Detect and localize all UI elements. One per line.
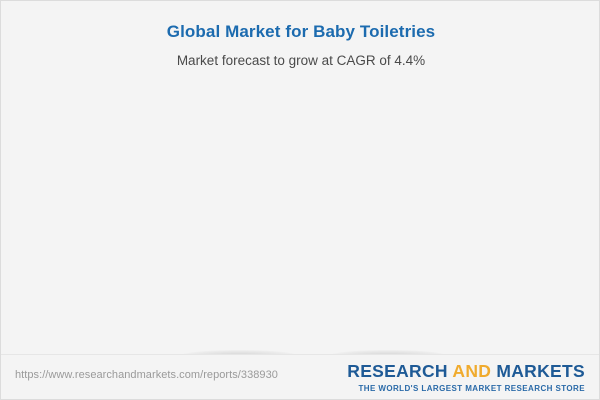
brand-logo[interactable]: RESEARCH AND MARKETS THE WORLD'S LARGEST… (347, 361, 585, 393)
brand-logo-tagline: THE WORLD'S LARGEST MARKET RESEARCH STOR… (347, 384, 585, 393)
brand-logo-and: AND (452, 361, 491, 381)
source-url-link[interactable]: https://www.researchandmarkets.com/repor… (15, 369, 278, 381)
chart-plot-area: USD 10.3 Billion 2022 USD 14.5 Billion (1, 1, 600, 356)
brand-logo-wordmark: RESEARCH AND MARKETS (347, 361, 585, 382)
brand-logo-research: RESEARCH (347, 361, 452, 381)
footer-bar: https://www.researchandmarkets.com/repor… (1, 354, 599, 399)
infographic-canvas: Global Market for Baby Toiletries Market… (0, 0, 600, 400)
brand-logo-markets: MARKETS (491, 361, 585, 381)
